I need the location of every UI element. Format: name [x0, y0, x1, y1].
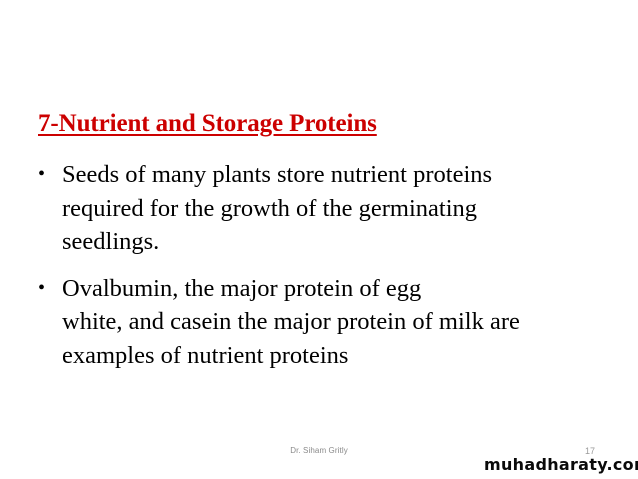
list-item-line: Seeds of many plants store nutrient prot…	[62, 158, 604, 192]
list-item-line: seedlings.	[62, 225, 604, 259]
list-item: • Ovalbumin, the major protein of egg wh…	[36, 272, 604, 373]
slide-body: • Seeds of many plants store nutrient pr…	[36, 158, 604, 372]
bullet-icon: •	[36, 158, 62, 192]
slide: 7-Nutrient and Storage Proteins • Seeds …	[0, 0, 638, 479]
list-item-line: required for the growth of the germinati…	[62, 192, 604, 226]
list-item-text: Seeds of many plants store nutrient prot…	[62, 158, 604, 259]
list-item-line: Ovalbumin, the major protein of egg	[62, 272, 604, 306]
footer-author: Dr. Siham Gritly	[0, 446, 638, 455]
bullet-icon: •	[36, 272, 62, 306]
list-item-line: white, and casein the major protein of m…	[62, 305, 604, 339]
list-item-text: Ovalbumin, the major protein of egg whit…	[62, 272, 604, 373]
page-title: 7-Nutrient and Storage Proteins	[38, 110, 377, 138]
list-item-line: examples of nutrient proteins	[62, 339, 604, 373]
list-item: • Seeds of many plants store nutrient pr…	[36, 158, 604, 259]
watermark: muhadharaty.com	[484, 455, 638, 474]
